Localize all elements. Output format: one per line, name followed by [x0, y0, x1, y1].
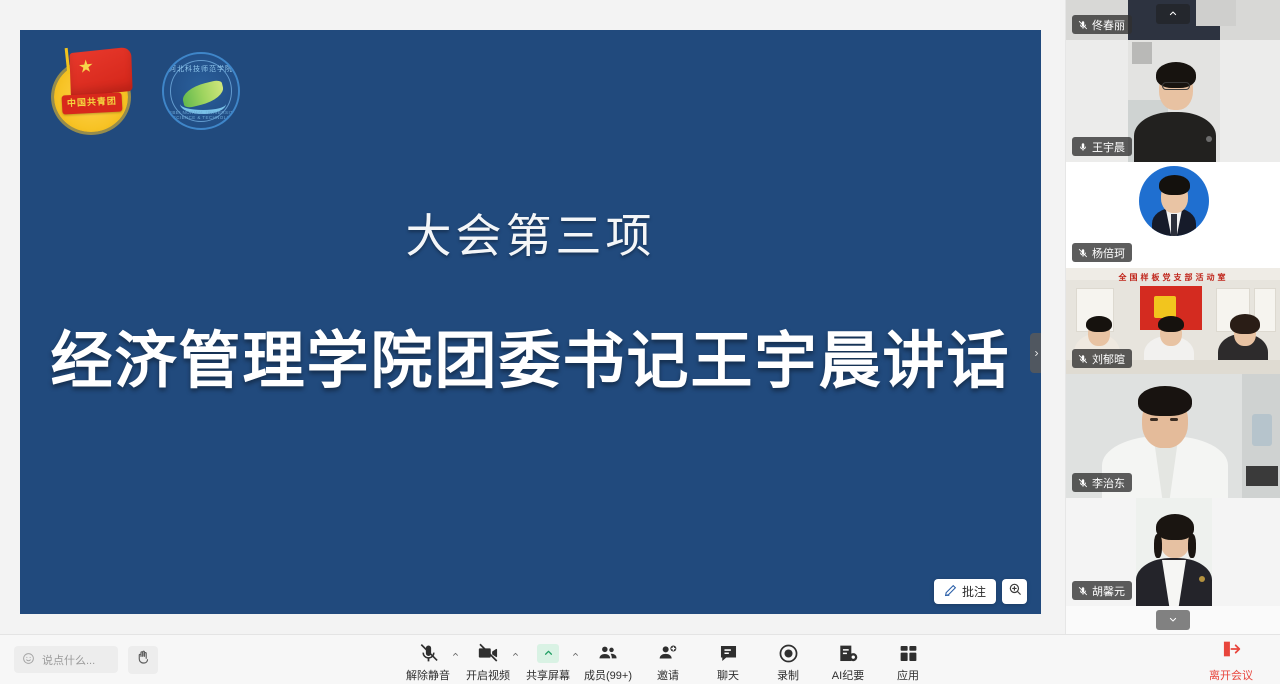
participants-button-label: 成员(99+)	[584, 667, 632, 683]
participant-name: 王宇晨	[1092, 139, 1125, 155]
toolbar-main-controls: 解除静音 开启视频	[398, 638, 938, 683]
chevron-up-icon	[1166, 5, 1180, 23]
chat-button[interactable]: 聊天	[698, 638, 758, 683]
chevron-right-icon	[1033, 348, 1040, 359]
participant-tile[interactable]: 杨倍珂	[1066, 162, 1280, 268]
apps-button[interactable]: 应用	[878, 638, 938, 683]
microphone-muted-icon	[1077, 18, 1088, 31]
record-button-label: 录制	[777, 667, 799, 683]
microphone-muted-icon	[1077, 352, 1088, 365]
raise-hand-icon	[135, 649, 151, 670]
slide-title: 大会第三项	[20, 200, 1041, 266]
camera-muted-icon	[477, 642, 499, 664]
participant-tile[interactable]: 全国样板党支部活动室	[1066, 268, 1280, 374]
participant-name: 胡馨元	[1092, 583, 1125, 599]
microphone-active-icon	[1077, 140, 1088, 153]
screen-share-icon	[537, 642, 559, 664]
invite-button-label: 邀请	[657, 667, 679, 683]
pencil-icon	[944, 584, 957, 600]
participants-icon	[597, 642, 619, 664]
participant-name-badge: 李治东	[1072, 473, 1132, 492]
participant-tile[interactable]: 李治东	[1066, 374, 1280, 498]
leave-meeting-icon	[1220, 639, 1242, 664]
annotate-button[interactable]: 批注	[934, 579, 996, 604]
filmstrip-scroll-down-button[interactable]	[1156, 610, 1190, 630]
unmute-button[interactable]: 解除静音	[398, 638, 458, 683]
participant-name: 杨倍珂	[1092, 245, 1125, 261]
participants-button[interactable]: 成员(99+)	[578, 638, 638, 683]
participant-name: 刘郁暄	[1092, 351, 1125, 367]
meeting-window: 中国共青团 河北科技师范学院 HEBEI NORMAL UNIVERSITY O…	[0, 0, 1280, 684]
presentation-slide[interactable]: 中国共青团 河北科技师范学院 HEBEI NORMAL UNIVERSITY O…	[20, 30, 1041, 614]
invite-button[interactable]: 邀请	[638, 638, 698, 683]
invite-person-icon	[657, 642, 679, 664]
ai-notes-button-label: AI纪要	[832, 667, 864, 683]
unmute-button-label: 解除静音	[406, 667, 450, 683]
emblem-band-text: 中国共青团	[62, 92, 123, 114]
chat-button-label: 聊天	[717, 667, 739, 683]
smiley-icon	[22, 652, 35, 668]
apps-button-label: 应用	[897, 667, 919, 683]
college-emblem-bottom-text: HEBEI NORMAL UNIVERSITY OF SCIENCE & TEC…	[164, 110, 238, 120]
share-screen-button[interactable]: 共享屏幕	[518, 638, 578, 683]
record-circle-icon	[778, 642, 799, 664]
participant-name-badge: 刘郁暄	[1072, 349, 1132, 368]
slide-tool-buttons: 批注	[934, 579, 1027, 604]
chat-quick-input-placeholder: 说点什么...	[42, 652, 95, 668]
start-video-button[interactable]: 开启视频	[458, 638, 518, 683]
participant-name: 李治东	[1092, 475, 1125, 491]
chevron-down-icon	[1166, 611, 1180, 629]
annotate-button-label: 批注	[962, 583, 986, 600]
record-button[interactable]: 录制	[758, 638, 818, 683]
chat-quick-input[interactable]: 说点什么...	[14, 646, 118, 673]
leave-meeting-button-label: 离开会议	[1209, 667, 1253, 683]
college-emblem-icon: 河北科技师范学院 HEBEI NORMAL UNIVERSITY OF SCIE…	[162, 52, 240, 130]
microphone-muted-icon	[1077, 246, 1088, 259]
college-emblem-top-text: 河北科技师范学院	[164, 64, 238, 74]
start-video-button-label: 开启视频	[466, 667, 510, 683]
microphone-muted-icon	[1077, 476, 1088, 489]
zoom-button[interactable]	[1002, 579, 1027, 604]
participant-name: 佟春丽	[1092, 17, 1125, 33]
participant-tile[interactable]: 胡馨元	[1066, 498, 1280, 606]
meeting-toolbar: 说点什么...	[0, 634, 1280, 684]
ai-notes-icon	[837, 642, 859, 664]
magnifier-plus-icon	[1008, 582, 1022, 601]
apps-grid-icon	[898, 642, 919, 664]
slide-logos: 中国共青团 河北科技师范学院 HEBEI NORMAL UNIVERSITY O…	[50, 48, 240, 134]
slide-heading: 经济管理学院团委书记王宇晨讲话	[20, 310, 1041, 400]
participant-name-badge: 胡馨元	[1072, 581, 1132, 600]
collapse-filmstrip-handle[interactable]	[1030, 333, 1041, 373]
communist-youth-league-emblem-icon: 中国共青团	[50, 48, 136, 134]
leave-meeting-button[interactable]: 离开会议	[1196, 639, 1266, 683]
chat-bubble-icon	[718, 642, 739, 664]
share-screen-button-label: 共享屏幕	[526, 667, 570, 683]
raise-hand-button[interactable]	[128, 646, 158, 674]
toolbar-left-group: 说点什么...	[14, 646, 158, 674]
microphone-muted-icon	[1077, 584, 1088, 597]
participant-filmstrip[interactable]: 佟春丽	[1065, 0, 1280, 634]
filmstrip-scroll-up-button[interactable]	[1156, 4, 1190, 24]
participant-name-badge: 王宇晨	[1072, 137, 1132, 156]
ai-notes-button[interactable]: AI纪要	[818, 638, 878, 683]
shared-screen-stage: 中国共青团 河北科技师范学院 HEBEI NORMAL UNIVERSITY O…	[0, 0, 1060, 634]
microphone-muted-icon	[418, 642, 439, 664]
participant-tile-active-speaker[interactable]: 王宇晨	[1066, 40, 1280, 162]
participant-name-badge: 杨倍珂	[1072, 243, 1132, 262]
participant-name-badge: 佟春丽	[1072, 15, 1132, 34]
